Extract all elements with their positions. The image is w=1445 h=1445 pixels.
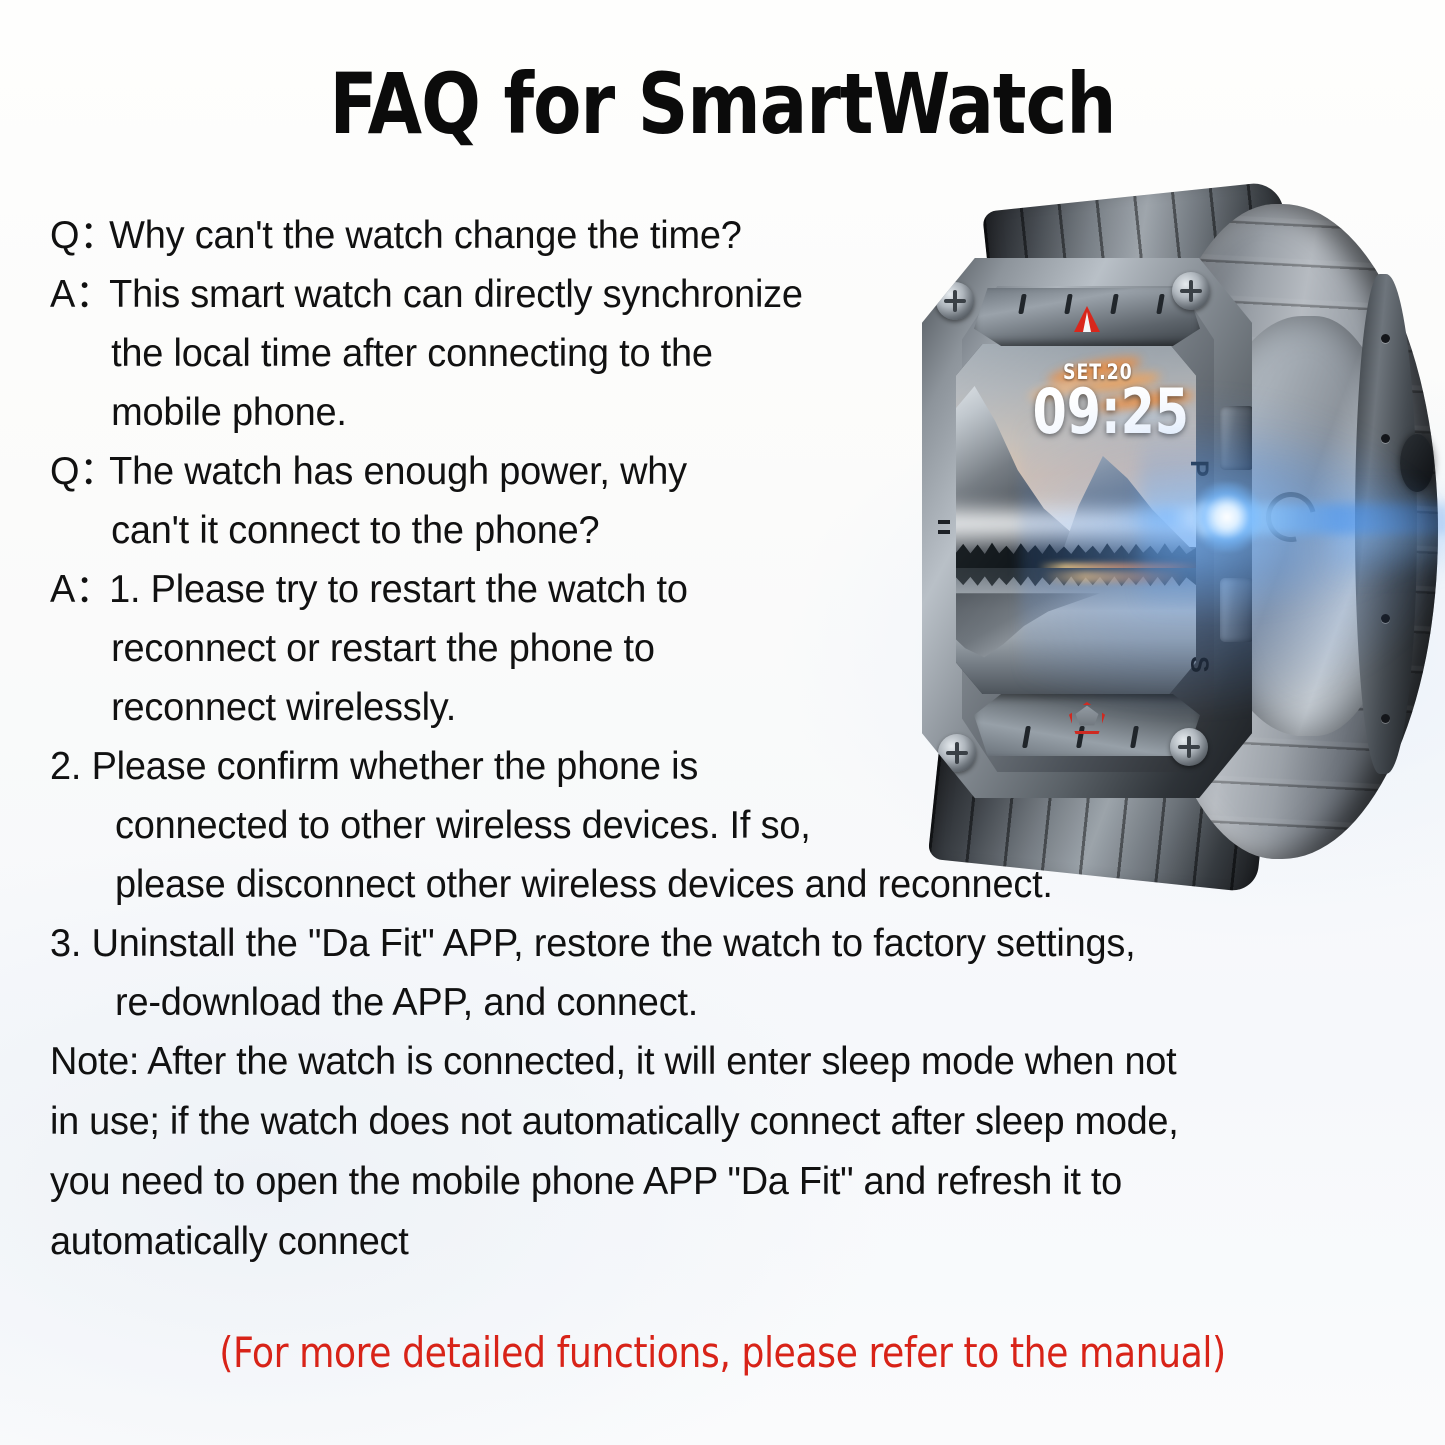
red-arrow-emblem-icon [1074,306,1100,332]
a-text: 1. Please try to restart the watch to [109,568,688,611]
manual-reference-note: (For more detailed functions, please ref… [29,1327,1416,1379]
bracelet-pin [1381,714,1390,723]
a-label: A： [50,265,109,324]
bezel-vent [1022,726,1031,748]
note-line: in use; if the watch does not automatica… [50,1092,1380,1152]
step-line-cont: re-download the APP, and connect. [50,973,1380,1032]
step-item-3: 3. Uninstall the "Da Fit" APP, restore t… [50,914,1400,1032]
lens-flare-core [1192,482,1262,552]
q-text: Why can't the watch change the time? [109,214,742,257]
note-line: Note: After the watch is connected, it w… [50,1032,1380,1092]
q-text: The watch has enough power, why [109,450,687,493]
bezel-top-plate [974,288,1200,346]
watch-stage: SET.20 09:25 [900,196,1445,868]
a-label: A： [50,560,109,619]
case-screw [936,282,974,320]
q-label: Q： [50,206,109,265]
faq-page: FAQ for SmartWatch Q：Why can't the watch… [0,0,1445,1445]
page-title: FAQ for SmartWatch [51,58,1395,150]
bezel-label-s: S [1184,656,1213,673]
note-line: you need to open the mobile phone APP "D… [50,1152,1380,1212]
red-pentagon-emblem-icon [1069,702,1105,734]
bezel-vent [1064,294,1073,314]
bezel-vent [1110,294,1119,314]
smartwatch-product-image: SET.20 09:25 [900,196,1445,868]
case-screw [1172,272,1210,310]
case-screw [1170,728,1208,766]
note-line: automatically connect [50,1212,1380,1272]
bezel-bottom-plate [974,694,1200,756]
q-label: Q： [50,442,109,501]
wallpaper-reflection-mountain [956,593,1100,659]
step-line: 3. Uninstall the "Da Fit" APP, restore t… [50,914,1380,973]
bracelet-pin [1381,334,1390,343]
a-text: This smart watch can directly synchroniz… [109,273,803,316]
bezel-vent [1018,294,1027,314]
bezel-vent [1156,294,1165,314]
bezel-vent [1130,726,1139,748]
bezel-left-marker [938,520,950,524]
note-block: Note: After the watch is connected, it w… [50,1032,1400,1272]
